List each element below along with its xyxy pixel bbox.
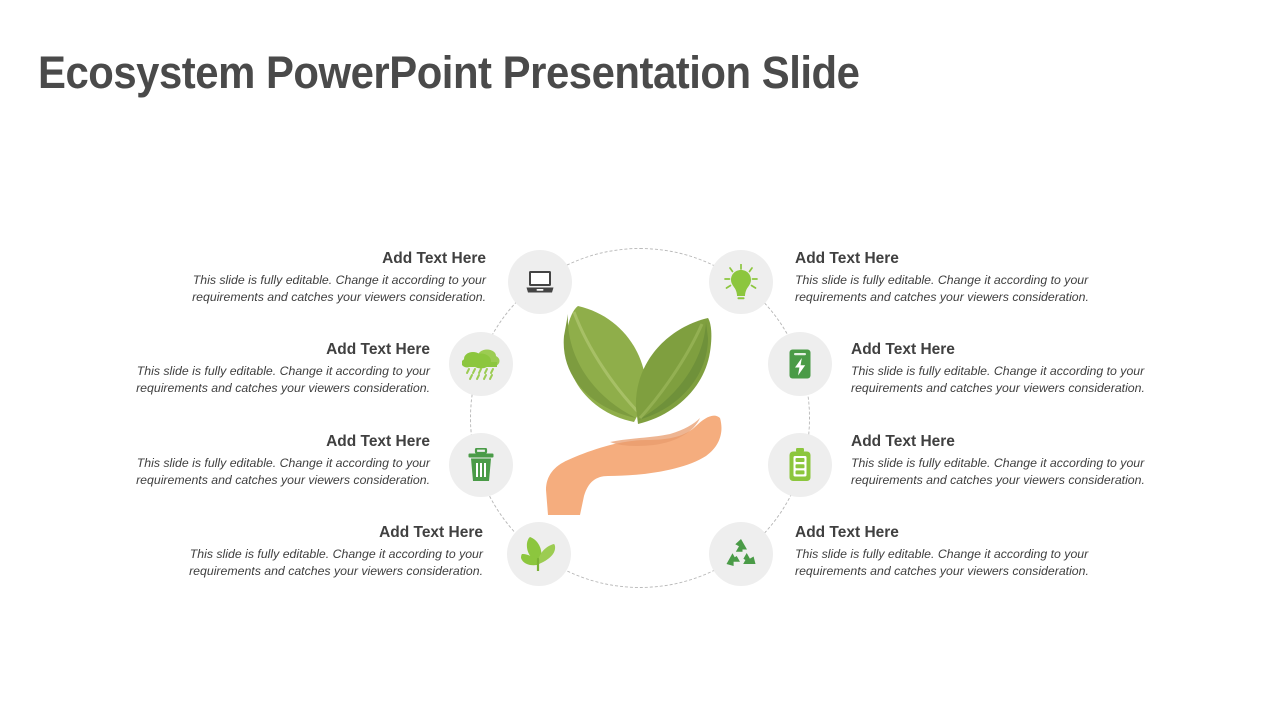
icon-bubble-cloud-rain[interactable] — [449, 332, 513, 396]
ecosystem-circle-diagram: Add Text Here This slide is fully editab… — [0, 0, 1280, 720]
text-block-leaves: Add Text Here This slide is fully editab… — [153, 524, 483, 579]
body-text: This slide is fully editable. Change it … — [851, 455, 1181, 488]
body-text: This slide is fully editable. Change it … — [795, 272, 1125, 305]
body-text: This slide is fully editable. Change it … — [795, 546, 1125, 579]
leaves-icon — [521, 537, 557, 571]
text-block-cloud-rain: Add Text Here This slide is fully editab… — [100, 341, 430, 396]
heading: Add Text Here — [153, 524, 483, 541]
trash-can-icon — [467, 448, 495, 482]
text-block-laptop: Add Text Here This slide is fully editab… — [156, 250, 486, 305]
text-block-recycle: Add Text Here This slide is fully editab… — [795, 524, 1125, 579]
heading: Add Text Here — [795, 524, 1125, 541]
hand-holding-leaves-illustration — [524, 300, 754, 520]
laptop-icon — [525, 269, 555, 295]
icon-bubble-recycle[interactable] — [709, 522, 773, 586]
body-text: This slide is fully editable. Change it … — [100, 455, 430, 488]
icon-bubble-laptop[interactable] — [508, 250, 572, 314]
battery-charging-icon — [788, 348, 812, 380]
heading: Add Text Here — [156, 250, 486, 267]
heading: Add Text Here — [100, 433, 430, 450]
text-block-lightbulb: Add Text Here This slide is fully editab… — [795, 250, 1125, 305]
body-text: This slide is fully editable. Change it … — [153, 546, 483, 579]
heading: Add Text Here — [100, 341, 430, 358]
icon-bubble-trash-can[interactable] — [449, 433, 513, 497]
cloud-rain-icon — [462, 347, 500, 381]
body-text: This slide is fully editable. Change it … — [851, 363, 1181, 396]
heading: Add Text Here — [795, 250, 1125, 267]
text-block-battery: Add Text Here This slide is fully editab… — [851, 433, 1181, 488]
icon-bubble-battery-charging[interactable] — [768, 332, 832, 396]
battery-level-icon — [788, 448, 812, 482]
body-text: This slide is fully editable. Change it … — [156, 272, 486, 305]
icon-bubble-lightbulb[interactable] — [709, 250, 773, 314]
icon-bubble-leaves[interactable] — [507, 522, 571, 586]
body-text: This slide is fully editable. Change it … — [100, 363, 430, 396]
recycle-icon — [724, 538, 758, 570]
icon-bubble-battery-level[interactable] — [768, 433, 832, 497]
text-block-power: Add Text Here This slide is fully editab… — [851, 341, 1181, 396]
heading: Add Text Here — [851, 341, 1181, 358]
lightbulb-icon — [724, 264, 758, 300]
text-block-trash: Add Text Here This slide is fully editab… — [100, 433, 430, 488]
heading: Add Text Here — [851, 433, 1181, 450]
